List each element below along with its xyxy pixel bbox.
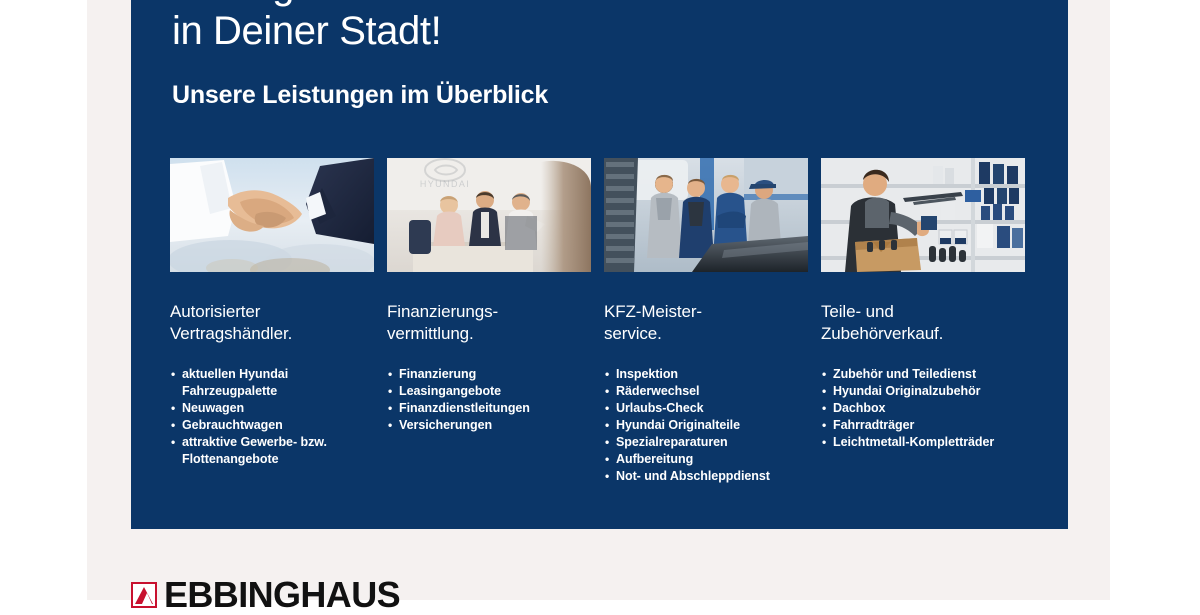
service-list: aktuellen Hyundai Fahrzeugpalette Neuwag… xyxy=(170,345,374,468)
list-item: attraktive Gewerbe- bzw. Flottenangebote xyxy=(170,434,374,468)
list-item: Versicherungen xyxy=(387,417,591,434)
brand-logo[interactable]: EBBINGHAUS xyxy=(131,577,400,613)
service-list: Inspektion Räderwechsel Urlaubs-Check Hy… xyxy=(604,345,808,485)
list-item: Fahrradträger xyxy=(821,417,1025,434)
parts-counter-photo xyxy=(821,158,1025,272)
handshake-photo xyxy=(170,158,374,272)
list-item: aktuellen Hyundai Fahrzeugpalette xyxy=(170,366,374,400)
list-item: Gebrauchtwagen xyxy=(170,417,374,434)
list-item: Hyundai Originalzubehör xyxy=(821,383,1025,400)
service-list: Zubehör und Teiledienst Hyundai Original… xyxy=(821,345,1025,451)
list-item: Inspektion xyxy=(604,366,808,383)
list-item: Urlaubs-Check xyxy=(604,400,808,417)
hero-text-block: Ebbinghaus – Dein Autohaus in Deiner Sta… xyxy=(172,0,1027,110)
list-item: Leasingangebote xyxy=(387,383,591,400)
list-item: Spezialreparaturen xyxy=(604,434,808,451)
service-column-finanzierung: HYUNDAI xyxy=(387,158,591,485)
service-column-vertragshaendler: Autorisierter Vertragshändler. aktuellen… xyxy=(170,158,374,485)
brand-wordmark: EBBINGHAUS xyxy=(164,577,400,613)
list-item: Leichtmetall-Kompletträder xyxy=(821,434,1025,451)
service-heading: KFZ-Meister- service. xyxy=(604,272,808,345)
list-item: Finanzdienstleitungen xyxy=(387,400,591,417)
mechanics-team-photo xyxy=(604,158,808,272)
svg-text:HYUNDAI: HYUNDAI xyxy=(420,179,470,189)
service-column-kfz-meisterservice: KFZ-Meister- service. Inspektion Räderwe… xyxy=(604,158,808,485)
list-item: Neuwagen xyxy=(170,400,374,417)
list-item: Zubehör und Teiledienst xyxy=(821,366,1025,383)
list-item: Hyundai Originalteile xyxy=(604,417,808,434)
service-heading: Autorisierter Vertragshändler. xyxy=(170,272,374,345)
hero-subtitle: Unsere Leistungen im Überblick xyxy=(172,55,1027,110)
services-grid: Autorisierter Vertragshändler. aktuellen… xyxy=(170,158,1026,485)
service-heading: Finanzierungs- vermittlung. xyxy=(387,272,591,345)
list-item: Aufbereitung xyxy=(604,451,808,468)
service-list: Finanzierung Leasingangebote Finanzdiens… xyxy=(387,345,591,434)
ebbinghaus-triangle-mark-icon xyxy=(131,582,157,608)
page-title: Ebbinghaus – Dein Autohaus in Deiner Sta… xyxy=(172,0,1027,55)
list-item: Finanzierung xyxy=(387,366,591,383)
showroom-consultation-photo: HYUNDAI xyxy=(387,158,591,272)
list-item: Räderwechsel xyxy=(604,383,808,400)
service-column-teile-zubehoer: Teile- und Zubehörverkauf. Zubehör und T… xyxy=(821,158,1025,485)
list-item: Dachbox xyxy=(821,400,1025,417)
service-heading: Teile- und Zubehörverkauf. xyxy=(821,272,1025,345)
page-root: Ebbinghaus – Dein Autohaus in Deiner Sta… xyxy=(0,0,1200,600)
list-item: Not- und Abschleppdienst xyxy=(604,468,808,485)
